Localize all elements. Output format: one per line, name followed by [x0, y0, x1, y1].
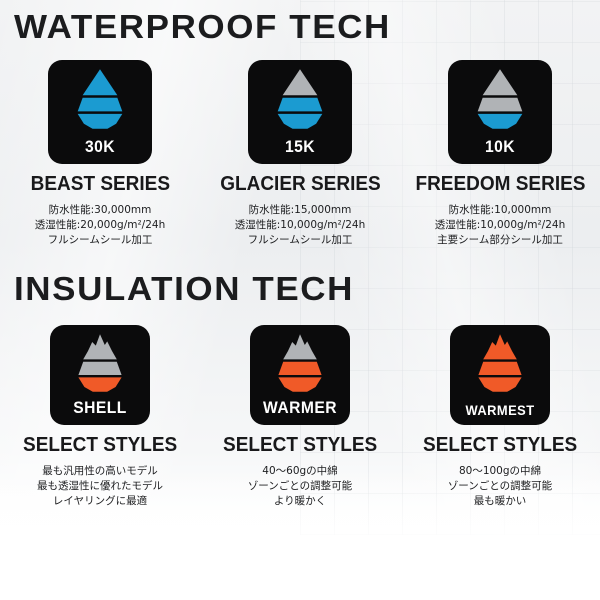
glyph-segment-3: [78, 114, 123, 129]
tile-label: 30K: [52, 137, 148, 157]
glyph-segment-3: [278, 114, 323, 129]
glyph-segment-2: [478, 98, 523, 112]
water-drop-icon: [69, 68, 131, 130]
tile-label: WARMEST: [454, 402, 546, 418]
spec-line: 80〜100gの中綿: [448, 464, 552, 479]
glyph-segment-3: [478, 377, 521, 391]
card-specs: 80〜100gの中綿ゾーンごとの調整可能最も暖かい: [448, 464, 552, 509]
mountain-flame-icon: [270, 333, 330, 393]
tech-card[interactable]: WARMESTSELECT STYLES80〜100gの中綿ゾーンごとの調整可能…: [400, 325, 600, 509]
card-specs: 最も汎用性の高いモデル最も透湿性に優れたモデルレイヤリングに最適: [37, 464, 163, 509]
spec-line: 防水性能:30,000mm: [35, 203, 165, 218]
section-heading-waterproof: WATERPROOF TECH: [14, 8, 391, 46]
card-title: SELECT STYLES: [223, 434, 377, 457]
card-title: SELECT STYLES: [423, 434, 577, 457]
glyph-segment-1: [483, 334, 517, 359]
glyph-segment-1: [283, 334, 317, 359]
glyph-segment-1: [83, 334, 117, 359]
spec-line: より暖かく: [248, 494, 352, 509]
tech-tile: 15K: [248, 60, 352, 164]
tech-tile: WARMER: [250, 325, 350, 425]
glyph-segment-1: [483, 69, 518, 95]
tech-tile: 30K: [48, 60, 152, 164]
tech-card[interactable]: 30KBEAST SERIES防水性能:30,000mm透湿性能:20,000g…: [0, 60, 200, 248]
spec-line: ゾーンごとの調整可能: [248, 479, 352, 494]
spec-line: 透湿性能:10,000g/m²/24h: [435, 218, 565, 233]
mountain-flame-icon: [470, 333, 530, 393]
tech-tile: SHELL: [50, 325, 150, 425]
glyph-segment-3: [278, 377, 321, 391]
card-title: GLACIER SERIES: [220, 173, 380, 196]
card-specs: 防水性能:30,000mm透湿性能:20,000g/m²/24hフルシームシール…: [35, 203, 165, 248]
tech-tile: WARMEST: [450, 325, 550, 425]
card-title: BEAST SERIES: [30, 173, 169, 196]
card-specs: 防水性能:10,000mm透湿性能:10,000g/m²/24h主要シーム部分シ…: [435, 203, 565, 248]
tile-label: 10K: [452, 137, 548, 157]
card-title: SELECT STYLES: [23, 434, 177, 457]
section-heading-insulation: INSULATION TECH: [14, 270, 354, 308]
spec-line: 最も汎用性の高いモデル: [37, 464, 163, 479]
card-specs: 40〜60gの中綿ゾーンごとの調整可能より暖かく: [248, 464, 352, 509]
card-title: FREEDOM SERIES: [415, 173, 585, 196]
tech-card[interactable]: SHELLSELECT STYLES最も汎用性の高いモデル最も透湿性に優れたモデ…: [0, 325, 200, 509]
spec-line: 透湿性能:10,000g/m²/24h: [235, 218, 365, 233]
tech-tile: 10K: [448, 60, 552, 164]
card-specs: 防水性能:15,000mm透湿性能:10,000g/m²/24hフルシームシール…: [235, 203, 365, 248]
spec-line: レイヤリングに最適: [37, 494, 163, 509]
water-drop-icon: [269, 68, 331, 130]
spec-line: 主要シーム部分シール加工: [435, 233, 565, 248]
insulation-card-row: SHELLSELECT STYLES最も汎用性の高いモデル最も透湿性に優れたモデ…: [0, 325, 600, 509]
spec-line: フルシームシール加工: [35, 233, 165, 248]
glyph-segment-1: [283, 69, 318, 95]
spec-line: 最も透湿性に優れたモデル: [37, 479, 163, 494]
glyph-segment-2: [278, 98, 323, 112]
spec-line: フルシームシール加工: [235, 233, 365, 248]
glyph-segment-2: [478, 362, 521, 375]
spec-line: 防水性能:10,000mm: [435, 203, 565, 218]
tile-label: 15K: [252, 137, 348, 157]
glyph-segment-2: [78, 98, 123, 112]
glyph-segment-2: [78, 362, 121, 375]
water-drop-icon: [469, 68, 531, 130]
mountain-flame-icon: [70, 333, 130, 393]
spec-line: 透湿性能:20,000g/m²/24h: [35, 218, 165, 233]
spec-line: 40〜60gの中綿: [248, 464, 352, 479]
tech-card[interactable]: WARMERSELECT STYLES40〜60gの中綿ゾーンごとの調整可能より…: [200, 325, 400, 509]
tech-card[interactable]: 10KFREEDOM SERIES防水性能:10,000mm透湿性能:10,00…: [400, 60, 600, 248]
glyph-segment-1: [83, 69, 118, 95]
glyph-segment-3: [78, 377, 121, 391]
spec-line: 防水性能:15,000mm: [235, 203, 365, 218]
tile-label: WARMER: [254, 398, 346, 418]
tech-spec-infographic: WATERPROOF TECH 30KBEAST SERIES防水性能:30,0…: [0, 0, 600, 600]
spec-line: 最も暖かい: [448, 494, 552, 509]
glyph-segment-2: [278, 362, 321, 375]
glyph-segment-3: [478, 114, 523, 129]
waterproof-card-row: 30KBEAST SERIES防水性能:30,000mm透湿性能:20,000g…: [0, 60, 600, 248]
tech-card[interactable]: 15KGLACIER SERIES防水性能:15,000mm透湿性能:10,00…: [200, 60, 400, 248]
spec-line: ゾーンごとの調整可能: [448, 479, 552, 494]
tile-label: SHELL: [54, 398, 146, 418]
